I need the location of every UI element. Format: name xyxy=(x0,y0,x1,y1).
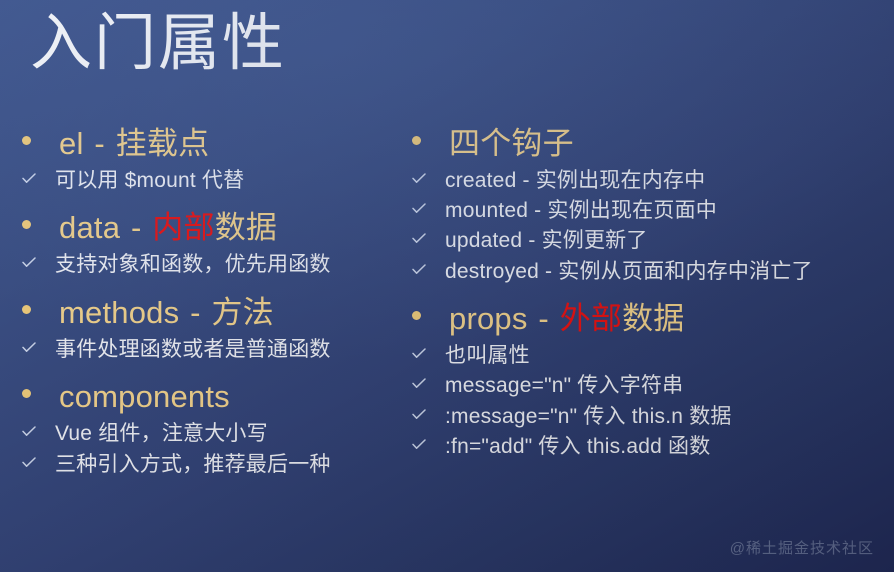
heading-keyword: methods xyxy=(59,295,179,330)
check-icon xyxy=(22,173,36,184)
bullet-group-methods: methods - 方法事件处理函数或者是普通函数 xyxy=(22,293,422,364)
sub-item-row: 支持对象和函数，优先用函数 xyxy=(22,250,422,280)
check-icon xyxy=(412,264,426,275)
heading-suffix: 数据 xyxy=(215,210,277,245)
check-icon xyxy=(412,233,426,244)
heading-dash: - xyxy=(84,126,116,161)
bullet-group-data: data - 内部数据支持对象和函数，优先用函数 xyxy=(22,208,422,279)
heading-dash: - xyxy=(528,301,560,336)
sub-item-label: mounted - 实例出现在页面中 xyxy=(445,196,717,225)
heading-suffix: 挂载点 xyxy=(116,126,210,161)
sub-item-label: 也叫属性 xyxy=(445,341,530,370)
sub-item-label: :fn="add" 传入 this.add 函数 xyxy=(445,432,710,461)
heading-keyword: components xyxy=(59,379,230,414)
heading-keyword: props xyxy=(449,301,528,336)
sub-item-label: message="n" 传入字符串 xyxy=(445,371,683,400)
check-icon xyxy=(412,439,426,450)
sub-item-row: 事件处理函数或者是普通函数 xyxy=(22,335,422,365)
bullet-heading-row: methods - 方法 xyxy=(22,293,422,333)
sub-item-row: created - 实例出现在内存中 xyxy=(412,166,890,195)
sub-item-row: :message="n" 传入 this.n 数据 xyxy=(412,402,890,431)
heading-keyword: data xyxy=(59,210,120,245)
check-icon xyxy=(22,342,36,353)
heading-dash: - xyxy=(179,295,211,330)
bullet-dot-icon xyxy=(22,220,31,229)
sub-item-label: 支持对象和函数，优先用函数 xyxy=(55,250,331,280)
sub-item-label: updated - 实例更新了 xyxy=(445,226,648,255)
bullet-heading-row: data - 内部数据 xyxy=(22,208,422,248)
presentation-slide: 入门属性 el - 挂载点可以用 $mount 代替data - 内部数据支持对… xyxy=(0,0,894,572)
bullet-group-item: 四个钩子created - 实例出现在内存中mounted - 实例出现在页面中… xyxy=(412,124,890,286)
bullet-dot-icon xyxy=(412,136,421,145)
bullet-heading-label: data - 内部数据 xyxy=(59,208,277,248)
bullet-group-el: el - 挂载点可以用 $mount 代替 xyxy=(22,124,422,195)
sub-item-label: Vue 组件，注意大小写 xyxy=(55,419,268,449)
sub-item-row: :fn="add" 传入 this.add 函数 xyxy=(412,432,890,461)
heading-suffix: 方法 xyxy=(211,295,273,330)
check-icon xyxy=(412,173,426,184)
bullet-dot-icon xyxy=(22,305,31,314)
sub-item-row: Vue 组件，注意大小写 xyxy=(22,419,422,449)
heading-suffix: 数据 xyxy=(622,301,684,336)
heading-dash: - xyxy=(120,210,152,245)
sub-item-row: destroyed - 实例从页面和内存中消亡了 xyxy=(412,257,890,286)
sub-item-row: message="n" 传入字符串 xyxy=(412,371,890,400)
check-icon xyxy=(22,426,36,437)
heading-highlight: 内部 xyxy=(152,210,214,245)
bullet-heading-row: 四个钩子 xyxy=(412,124,890,164)
sub-item-row: 可以用 $mount 代替 xyxy=(22,166,422,196)
bullet-group-components: componentsVue 组件，注意大小写三种引入方式，推荐最后一种 xyxy=(22,377,422,479)
sub-item-label: created - 实例出现在内存中 xyxy=(445,166,705,195)
sub-item-row: 三种引入方式，推荐最后一种 xyxy=(22,450,422,480)
heading-keyword: el xyxy=(59,126,84,161)
sub-item-label: 三种引入方式，推荐最后一种 xyxy=(55,450,331,480)
bullet-dot-icon xyxy=(22,136,31,145)
bullet-dot-icon xyxy=(412,311,421,320)
bullet-heading-row: components xyxy=(22,377,422,417)
bullet-heading-label: props - 外部数据 xyxy=(449,299,685,339)
bullet-dot-icon xyxy=(22,389,31,398)
left-content-column: el - 挂载点可以用 $mount 代替data - 内部数据支持对象和函数，… xyxy=(22,124,422,480)
sub-item-row: mounted - 实例出现在页面中 xyxy=(412,196,890,225)
sub-item-label: destroyed - 实例从页面和内存中消亡了 xyxy=(445,257,813,286)
sub-item-label: 可以用 $mount 代替 xyxy=(55,166,244,196)
sub-item-label: :message="n" 传入 this.n 数据 xyxy=(445,402,732,431)
bullet-heading-label: components xyxy=(59,377,230,417)
bullet-heading-row: el - 挂载点 xyxy=(22,124,422,164)
right-content-column: 四个钩子created - 实例出现在内存中mounted - 实例出现在页面中… xyxy=(412,124,890,461)
heading-suffix: 四个钩子 xyxy=(449,126,574,161)
sub-item-row: 也叫属性 xyxy=(412,341,890,370)
check-icon xyxy=(412,409,426,420)
heading-highlight: 外部 xyxy=(560,301,622,336)
check-icon xyxy=(412,348,426,359)
watermark: @稀土掘金技术社区 xyxy=(730,537,874,558)
check-icon xyxy=(22,457,36,468)
check-icon xyxy=(22,257,36,268)
sub-item-row: updated - 实例更新了 xyxy=(412,226,890,255)
check-icon xyxy=(412,203,426,214)
bullet-heading-label: 四个钩子 xyxy=(449,124,574,164)
check-icon xyxy=(412,378,426,389)
sub-item-label: 事件处理函数或者是普通函数 xyxy=(55,335,331,365)
bullet-group-props: props - 外部数据也叫属性message="n" 传入字符串:messag… xyxy=(412,299,890,461)
page-title: 入门属性 xyxy=(30,13,286,75)
bullet-heading-row: props - 外部数据 xyxy=(412,299,890,339)
bullet-heading-label: el - 挂载点 xyxy=(59,124,209,164)
bullet-heading-label: methods - 方法 xyxy=(59,293,274,333)
